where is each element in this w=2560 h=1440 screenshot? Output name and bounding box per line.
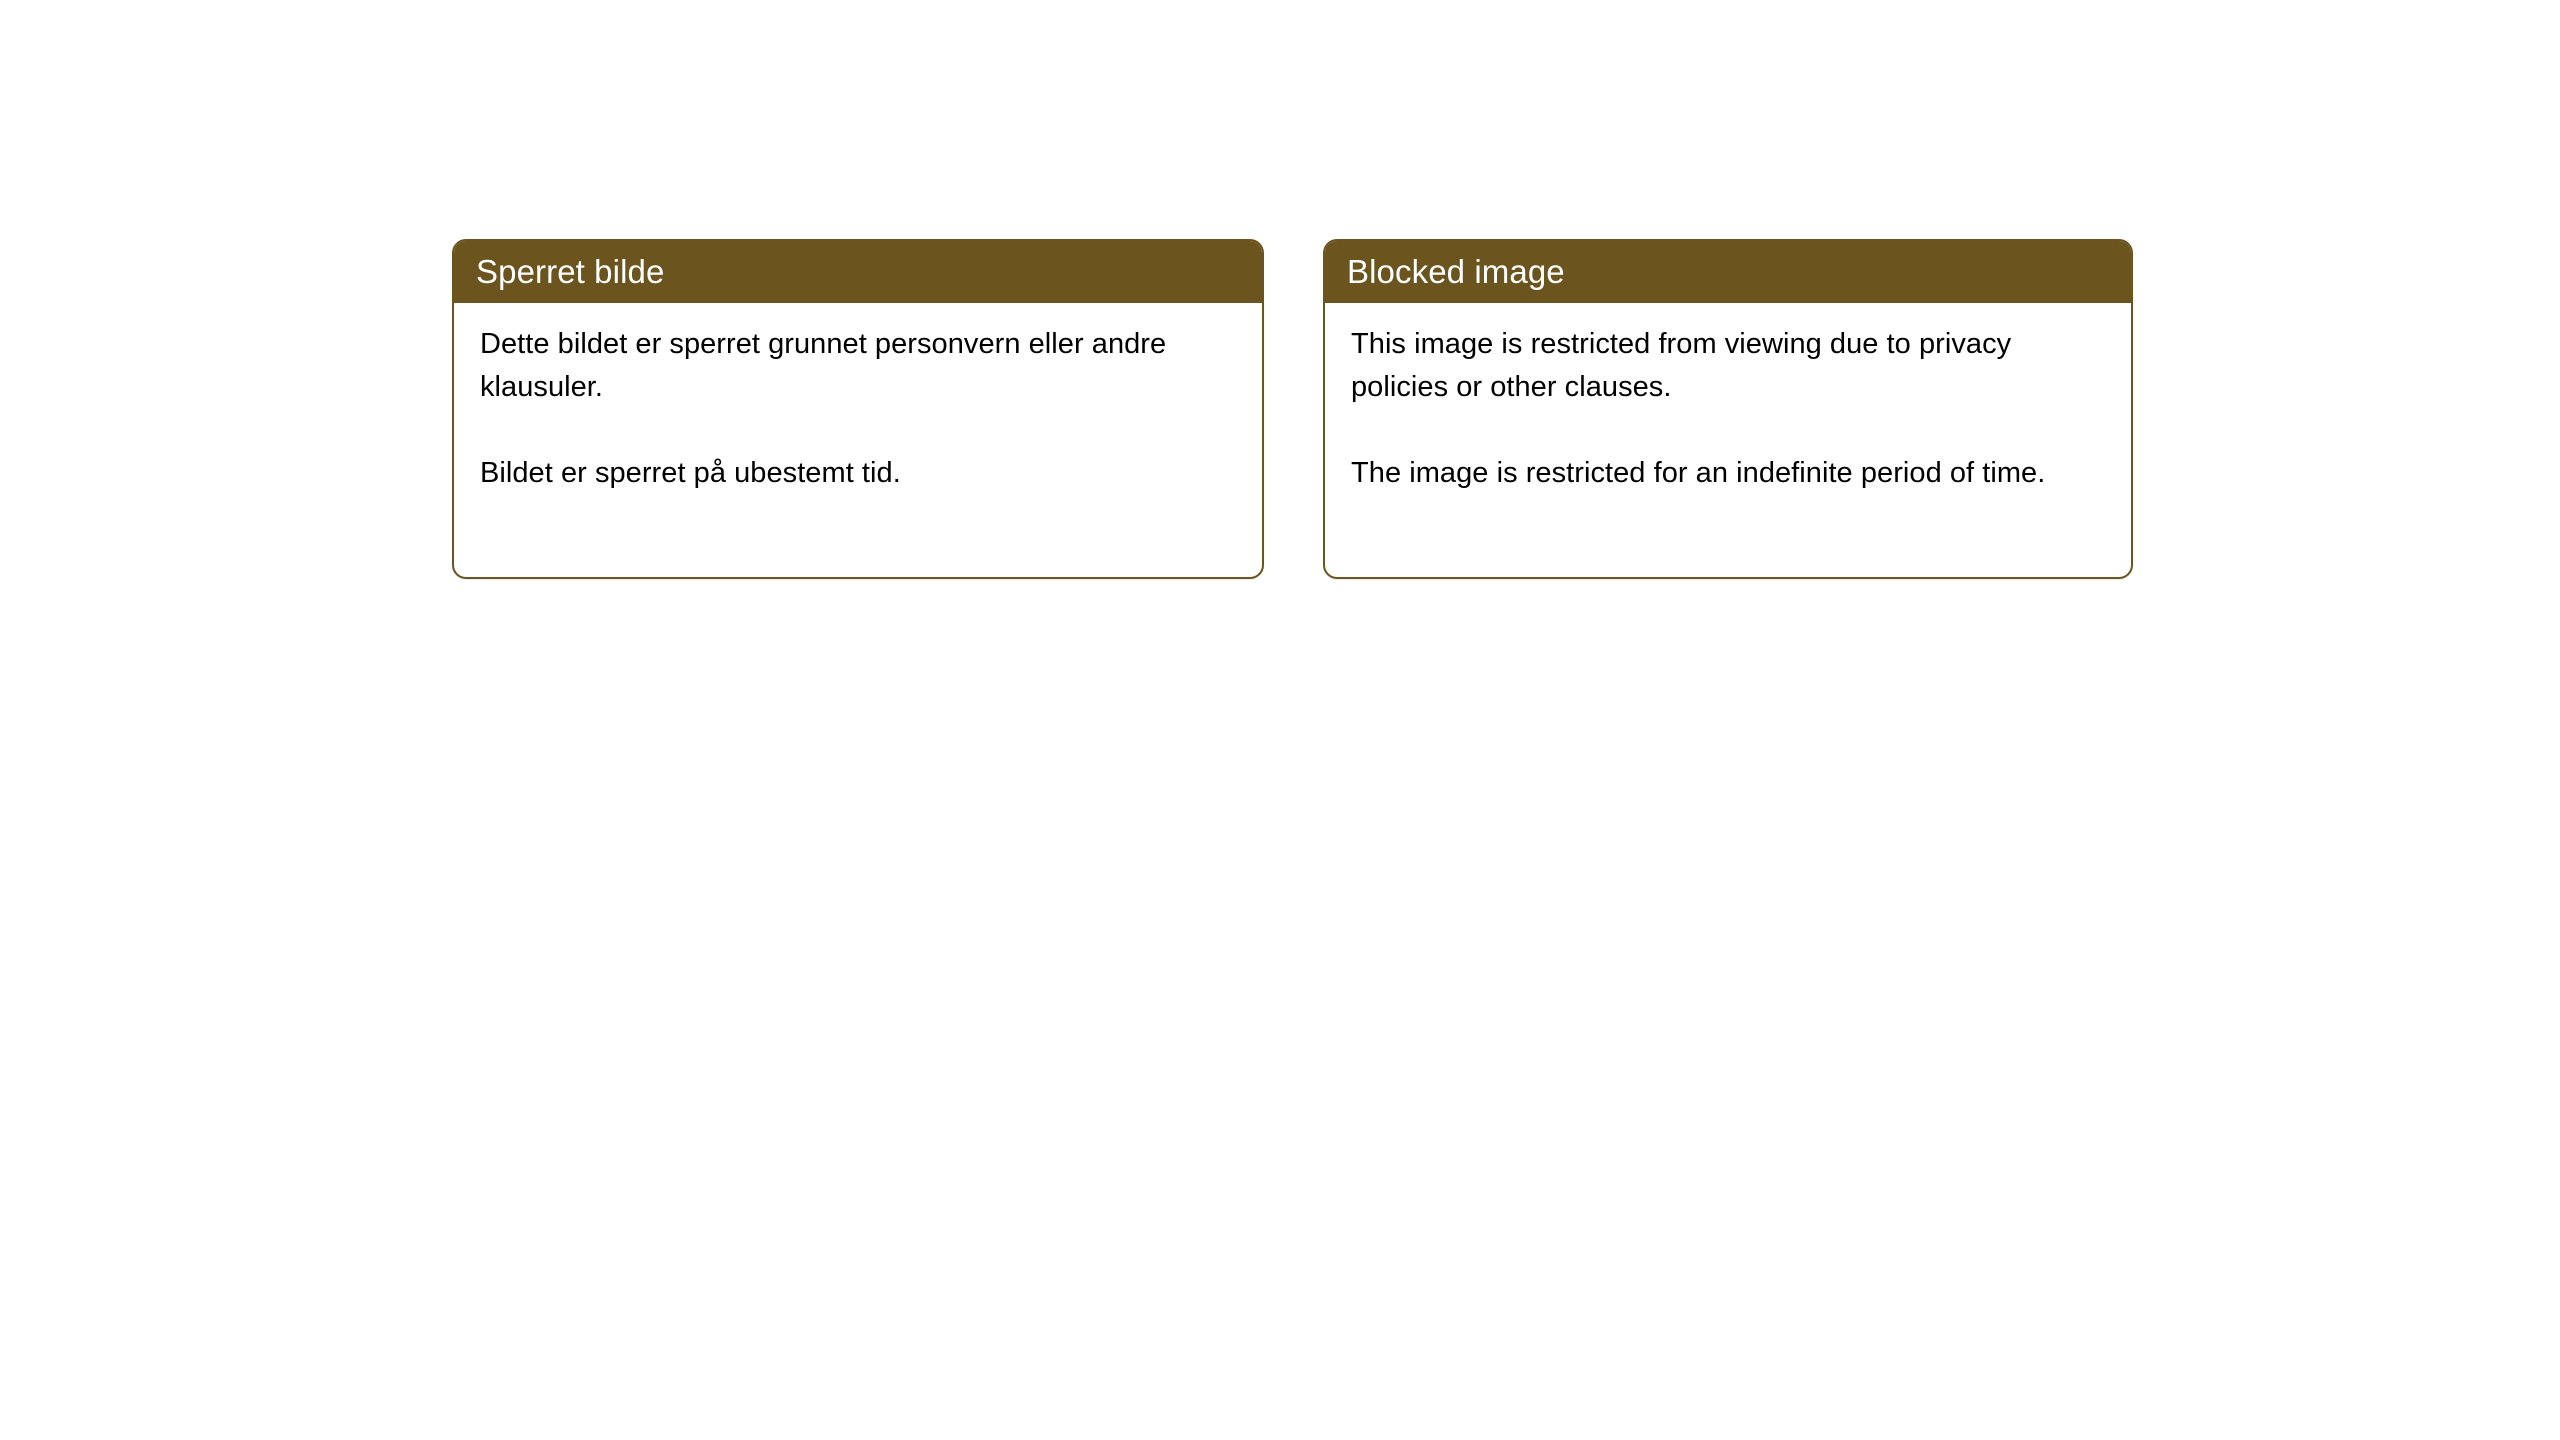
notice-title-norwegian: Sperret bilde xyxy=(476,255,664,288)
blocked-image-notice-english: Blocked image This image is restricted f… xyxy=(1323,239,2133,579)
notice-body-norwegian: Dette bildet er sperret grunnet personve… xyxy=(454,303,1262,577)
notice-body-english: This image is restricted from viewing du… xyxy=(1325,303,2131,577)
notice-header-english: Blocked image xyxy=(1323,239,2133,303)
notice-paragraph-secondary-english: The image is restricted for an indefinit… xyxy=(1351,452,2105,495)
notice-paragraph-primary-english: This image is restricted from viewing du… xyxy=(1351,323,2105,409)
notice-title-english: Blocked image xyxy=(1347,255,1565,288)
blocked-image-notice-group: Sperret bilde Dette bildet er sperret gr… xyxy=(452,239,2133,579)
blocked-image-notice-norwegian: Sperret bilde Dette bildet er sperret gr… xyxy=(452,239,1264,579)
notice-paragraph-primary-norwegian: Dette bildet er sperret grunnet personve… xyxy=(480,323,1180,409)
notice-paragraph-secondary-norwegian: Bildet er sperret på ubestemt tid. xyxy=(480,452,1180,495)
notice-header-norwegian: Sperret bilde xyxy=(452,239,1264,303)
